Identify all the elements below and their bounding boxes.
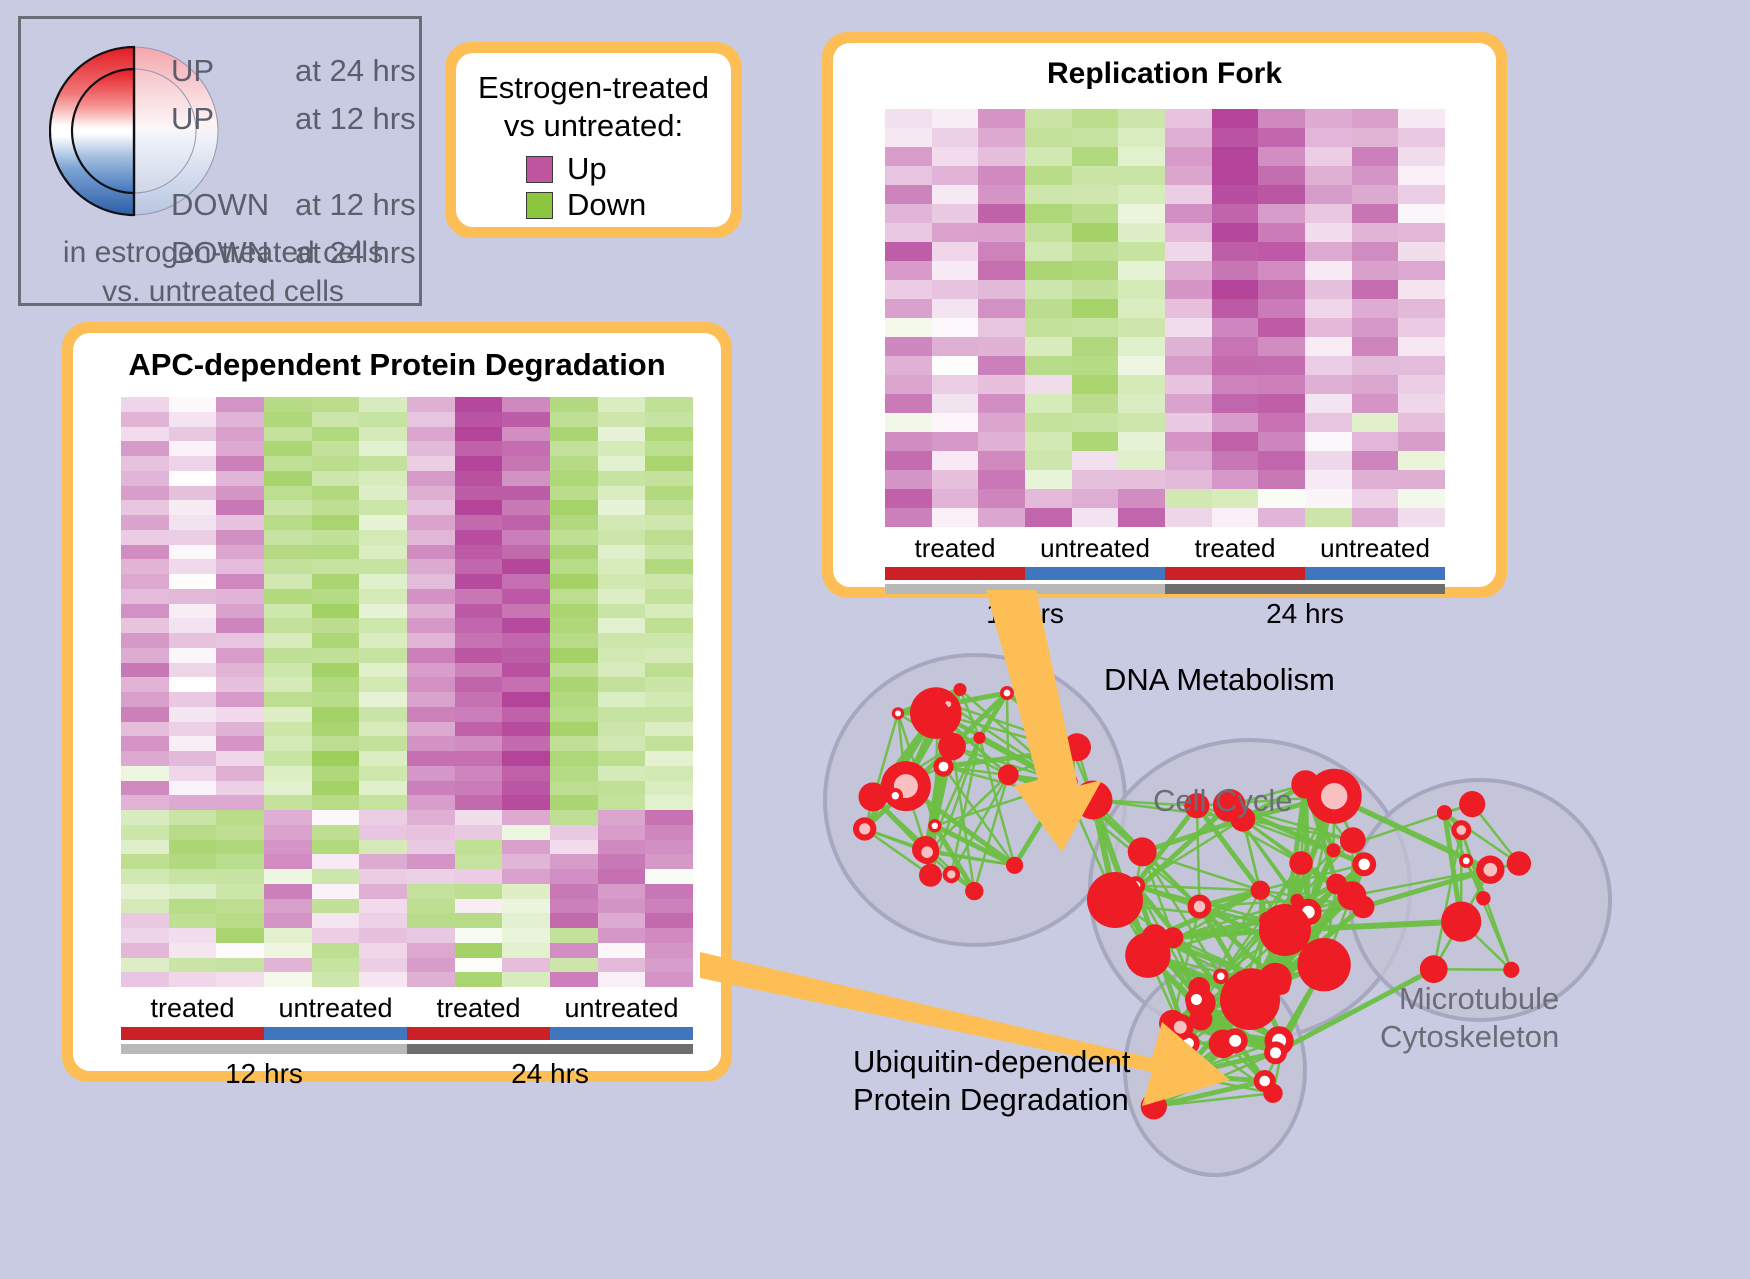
heatmap-cell xyxy=(598,412,646,427)
network-node-core xyxy=(947,870,955,878)
heatmap-cell xyxy=(1352,261,1399,280)
heatmap-cell xyxy=(978,432,1025,451)
heatmap-cell xyxy=(216,618,264,633)
heatmap-cell xyxy=(502,397,550,412)
heatmap-cell xyxy=(264,633,312,648)
heatmap-cell xyxy=(645,604,693,619)
heatmap-cell xyxy=(169,928,217,943)
heatmap-cell xyxy=(121,928,169,943)
heatmap-cell xyxy=(359,840,407,855)
heatmap-cell xyxy=(264,559,312,574)
heatmap-cell xyxy=(312,869,360,884)
heatmap-cell xyxy=(121,751,169,766)
heatmap-cell xyxy=(502,781,550,796)
heatmap-cell xyxy=(1072,185,1119,204)
heatmap-cell xyxy=(1212,451,1259,470)
heatmap-cell xyxy=(1118,128,1165,147)
heatmap-cell xyxy=(1072,470,1119,489)
network-node-core xyxy=(1463,857,1470,864)
heatmap-cell xyxy=(121,500,169,515)
heatmap-cell xyxy=(1165,508,1212,527)
heatmap-cell xyxy=(1258,185,1305,204)
heatmap-cell xyxy=(169,500,217,515)
heatmap-cell xyxy=(1072,204,1119,223)
heatmap-cell xyxy=(1025,432,1072,451)
heatmap-cell xyxy=(312,427,360,442)
heatmap-cell xyxy=(455,427,503,442)
heatmap-cell xyxy=(645,736,693,751)
color-wheel-legend: UP at 24 hrs UP at 12 hrs DOWN at 12 hrs… xyxy=(18,16,422,306)
heatmap-cell xyxy=(169,913,217,928)
heatmap-cell xyxy=(1352,337,1399,356)
heatmap-cell xyxy=(502,515,550,530)
heatmap-cell xyxy=(359,913,407,928)
heatmap-cell xyxy=(359,500,407,515)
heatmap-cell xyxy=(598,604,646,619)
heatmap-cell xyxy=(598,397,646,412)
heatmap-cell xyxy=(264,589,312,604)
group-label: treated xyxy=(121,993,264,1024)
network-node xyxy=(1459,791,1485,817)
heatmap-cell xyxy=(1072,318,1119,337)
heatmap-cell xyxy=(978,128,1025,147)
heatmap-cell xyxy=(1212,489,1259,508)
heatmap-cell xyxy=(1025,394,1072,413)
heatmap-cell xyxy=(1025,128,1072,147)
heatmap-cell xyxy=(598,899,646,914)
heatmap-cell xyxy=(1025,185,1072,204)
page-title: Replication Fork xyxy=(833,57,1496,91)
group-bar-segment xyxy=(1165,567,1305,580)
wheel-row: UP at 24 hrs xyxy=(171,47,421,95)
group-bar-segment xyxy=(407,1027,550,1040)
heatmap-cell xyxy=(359,530,407,545)
heatmap-cell xyxy=(455,899,503,914)
heatmap-cell xyxy=(502,633,550,648)
heatmap-cell xyxy=(1165,185,1212,204)
heatmap-cell xyxy=(264,574,312,589)
heatmap-cell xyxy=(407,589,455,604)
heatmap-cell xyxy=(1165,147,1212,166)
heatmap-cell xyxy=(455,545,503,560)
heatmap-cell xyxy=(502,928,550,943)
heatmap-cell xyxy=(1258,394,1305,413)
heatmap-cell xyxy=(359,854,407,869)
heatmap-cell xyxy=(407,500,455,515)
heatmap-cell xyxy=(455,412,503,427)
heatmap-cell xyxy=(359,604,407,619)
heatmap-cell xyxy=(216,559,264,574)
heatmap-cell xyxy=(1352,470,1399,489)
heatmap-cell xyxy=(1025,166,1072,185)
heatmap-cell xyxy=(455,456,503,471)
heatmap-cell xyxy=(1305,261,1352,280)
heatmap-cell xyxy=(1118,375,1165,394)
heatmap-cell xyxy=(645,412,693,427)
heatmap-cell xyxy=(645,500,693,515)
wheel-row-value: at 12 hrs xyxy=(295,95,416,143)
heatmap-cell xyxy=(312,766,360,781)
heatmap-cell xyxy=(407,958,455,973)
heatmap-cell xyxy=(216,456,264,471)
heatmap-cell xyxy=(407,722,455,737)
heatmap-cell xyxy=(455,486,503,501)
heatmap-cell xyxy=(216,707,264,722)
heatmap-cell xyxy=(216,574,264,589)
heatmap-cell xyxy=(598,559,646,574)
heatmap-cell xyxy=(1398,470,1445,489)
heatmap-cell xyxy=(264,530,312,545)
heatmap-cell xyxy=(502,884,550,899)
heatmap-cell xyxy=(598,795,646,810)
network-node-core xyxy=(1452,912,1471,931)
heatmap-cell xyxy=(264,412,312,427)
heatmap-cell xyxy=(264,707,312,722)
heatmap-cell xyxy=(978,470,1025,489)
heatmap-cell xyxy=(1305,337,1352,356)
heatmap-cell xyxy=(645,766,693,781)
heatmap-cell xyxy=(264,736,312,751)
heatmap-cell xyxy=(978,261,1025,280)
heatmap-cell xyxy=(216,810,264,825)
network-node xyxy=(1251,881,1270,900)
heatmap-cell xyxy=(312,899,360,914)
heatmap-cell xyxy=(550,840,598,855)
heatmap-cell xyxy=(1072,147,1119,166)
heatmap-cell xyxy=(169,795,217,810)
network-node-core xyxy=(1507,966,1515,974)
heatmap-cell xyxy=(216,825,264,840)
heatmap-cell xyxy=(121,545,169,560)
wheel-row-key: DOWN xyxy=(171,181,295,229)
heatmap-cell xyxy=(121,648,169,663)
heatmap-cell xyxy=(359,722,407,737)
heatmap-cell xyxy=(1165,337,1212,356)
heatmap-cell xyxy=(1165,375,1212,394)
heatmap-cell xyxy=(502,663,550,678)
heatmap-cell xyxy=(169,545,217,560)
network-node-core xyxy=(1359,859,1370,870)
wheel-row-value: at 24 hrs xyxy=(295,47,416,95)
heatmap-cell xyxy=(312,958,360,973)
heatmap-cell xyxy=(407,884,455,899)
heatmap-cell xyxy=(1025,508,1072,527)
heatmap-cell xyxy=(264,471,312,486)
heatmap-cell xyxy=(121,515,169,530)
heatmap-cell xyxy=(359,751,407,766)
heatmap-cell xyxy=(502,810,550,825)
heatmap-cell xyxy=(502,589,550,604)
heatmap-cell xyxy=(359,707,407,722)
heatmap-cell xyxy=(169,456,217,471)
heatmap-cell xyxy=(359,515,407,530)
heatmap-cell xyxy=(359,633,407,648)
heatmap-cell xyxy=(550,604,598,619)
heatmap-cell xyxy=(502,604,550,619)
heatmap-cell xyxy=(312,530,360,545)
heatmap-cell xyxy=(502,751,550,766)
heatmap-cell xyxy=(645,471,693,486)
heatmap-cell xyxy=(359,471,407,486)
heatmap-cell xyxy=(550,751,598,766)
heatmap-cell xyxy=(312,456,360,471)
network-node-core xyxy=(1270,1047,1281,1058)
heatmap-cell xyxy=(978,375,1025,394)
heatmap-cell xyxy=(550,677,598,692)
heatmap-cell xyxy=(502,427,550,442)
heatmap-cell xyxy=(502,500,550,515)
heatmap-cell xyxy=(1352,147,1399,166)
heatmap-cell xyxy=(1025,318,1072,337)
network-node-core xyxy=(892,792,899,799)
heatmap-cell xyxy=(1025,337,1072,356)
heatmap-cell xyxy=(932,185,979,204)
heatmap-cell xyxy=(1305,242,1352,261)
heatmap-cell xyxy=(978,223,1025,242)
heatmap-cell xyxy=(359,736,407,751)
network-node-core xyxy=(1321,783,1347,809)
heatmap-cell xyxy=(1258,204,1305,223)
heatmap-cell xyxy=(216,972,264,987)
replication-fork-heatmap xyxy=(885,109,1445,527)
heatmap-cell xyxy=(598,766,646,781)
heatmap-cell xyxy=(312,840,360,855)
heatmap-cell xyxy=(121,663,169,678)
heatmap-cell xyxy=(978,166,1025,185)
heatmap-cell xyxy=(359,412,407,427)
heatmap-cell xyxy=(1398,451,1445,470)
heatmap-cell xyxy=(932,413,979,432)
heatmap-cell xyxy=(1025,375,1072,394)
heatmap-cell xyxy=(264,913,312,928)
heatmap-cell xyxy=(312,633,360,648)
heatmap-cell xyxy=(1305,508,1352,527)
heatmap-cell xyxy=(645,884,693,899)
heatmap-cell xyxy=(121,736,169,751)
heatmap-cell xyxy=(645,545,693,560)
heatmap-cell xyxy=(932,261,979,280)
heatmap-cell xyxy=(121,589,169,604)
heatmap-cell xyxy=(1398,318,1445,337)
heatmap-cell xyxy=(1025,242,1072,261)
heatmap-cell xyxy=(502,618,550,633)
group-label: untreated xyxy=(1305,533,1445,564)
heatmap-cell xyxy=(216,486,264,501)
heatmap-cell xyxy=(169,471,217,486)
heatmap-cell xyxy=(645,618,693,633)
heatmap-cell xyxy=(1258,299,1305,318)
network-node-core xyxy=(1484,863,1498,877)
heatmap-cell xyxy=(216,471,264,486)
heatmap-cell xyxy=(1258,261,1305,280)
heatmap-cell xyxy=(455,884,503,899)
heatmap-cell xyxy=(407,486,455,501)
heatmap-cell xyxy=(1398,356,1445,375)
heatmap-cell xyxy=(264,545,312,560)
heatmap-cell xyxy=(264,618,312,633)
heatmap-cell xyxy=(550,441,598,456)
heatmap-cell xyxy=(1165,318,1212,337)
key-item-list: Up Down xyxy=(526,151,646,223)
heatmap-cell xyxy=(502,899,550,914)
heatmap-cell xyxy=(216,736,264,751)
heatmap-cell xyxy=(598,692,646,707)
heatmap-cell xyxy=(1212,356,1259,375)
group-bar-segment xyxy=(121,1027,264,1040)
group-label: treated xyxy=(1165,533,1305,564)
heatmap-cell xyxy=(1352,394,1399,413)
heatmap-cell xyxy=(407,515,455,530)
heatmap-cell xyxy=(1025,147,1072,166)
heatmap-cell xyxy=(169,427,217,442)
heatmap-cell xyxy=(121,677,169,692)
heatmap-cell xyxy=(359,574,407,589)
heatmap-cell xyxy=(598,456,646,471)
heatmap-cell xyxy=(645,707,693,722)
heatmap-cell xyxy=(264,722,312,737)
heatmap-cell xyxy=(502,736,550,751)
heatmap-cell xyxy=(1212,337,1259,356)
heatmap-cell xyxy=(407,854,455,869)
heatmap-cell xyxy=(455,604,503,619)
heatmap-cell xyxy=(598,589,646,604)
network-node xyxy=(859,782,888,811)
heatmap-cell xyxy=(1258,432,1305,451)
heatmap-cell xyxy=(1072,242,1119,261)
heatmap-cell xyxy=(885,280,932,299)
heatmap-cell xyxy=(598,913,646,928)
heatmap-cell xyxy=(932,394,979,413)
network-node-core xyxy=(939,762,949,772)
heatmap-cell xyxy=(121,869,169,884)
heatmap-cell xyxy=(312,648,360,663)
group-color-bar xyxy=(121,1027,693,1040)
heatmap-cell xyxy=(645,854,693,869)
heatmap-cell xyxy=(407,840,455,855)
time-label-row: 12 hrs24 hrs xyxy=(121,1058,693,1090)
heatmap-cell xyxy=(1118,280,1165,299)
heatmap-cell xyxy=(264,648,312,663)
key-item-label: Down xyxy=(567,187,646,223)
heatmap-cell xyxy=(169,397,217,412)
heatmap-cell xyxy=(169,412,217,427)
heatmap-cell xyxy=(359,427,407,442)
heatmap-cell xyxy=(312,515,360,530)
heatmap-cell xyxy=(502,412,550,427)
heatmap-cell xyxy=(359,559,407,574)
heatmap-cell xyxy=(407,943,455,958)
heatmap-cell xyxy=(312,913,360,928)
heatmap-cell xyxy=(1025,470,1072,489)
heatmap-cell xyxy=(1118,299,1165,318)
heatmap-cell xyxy=(885,318,932,337)
heatmap-cell xyxy=(169,972,217,987)
heatmap-cell xyxy=(312,471,360,486)
heatmap-cell xyxy=(645,692,693,707)
heatmap-cell xyxy=(1398,375,1445,394)
heatmap-cell xyxy=(216,427,264,442)
heatmap-cell xyxy=(1398,242,1445,261)
heatmap-cell xyxy=(932,470,979,489)
heatmap-cell xyxy=(455,810,503,825)
network-node xyxy=(965,882,983,900)
heatmap-cell xyxy=(550,663,598,678)
heatmap-cell xyxy=(1118,223,1165,242)
heatmap-cell xyxy=(502,795,550,810)
heatmap-cell xyxy=(550,559,598,574)
heatmap-cell xyxy=(502,530,550,545)
heatmap-cell xyxy=(169,736,217,751)
heatmap-cell xyxy=(1352,489,1399,508)
heatmap-cell xyxy=(885,128,932,147)
heatmap-cell xyxy=(550,943,598,958)
heatmap-cell xyxy=(264,663,312,678)
heatmap-cell xyxy=(407,545,455,560)
heatmap-cell xyxy=(1398,394,1445,413)
heatmap-cell xyxy=(264,884,312,899)
heatmap-cell xyxy=(885,489,932,508)
heatmap-cell xyxy=(407,618,455,633)
heatmap-cell xyxy=(312,972,360,987)
heatmap-cell xyxy=(359,869,407,884)
heatmap-cell xyxy=(1118,261,1165,280)
heatmap-cell xyxy=(455,795,503,810)
heatmap-cell xyxy=(550,456,598,471)
heatmap-cell xyxy=(1118,394,1165,413)
heatmap-cell xyxy=(1165,128,1212,147)
heatmap-cell xyxy=(932,375,979,394)
heatmap-cell xyxy=(216,633,264,648)
cluster-label-dna-metabolism: DNA Metabolism xyxy=(1104,662,1335,698)
heatmap-cell xyxy=(312,943,360,958)
heatmap-cell xyxy=(407,604,455,619)
heatmap-cell xyxy=(598,648,646,663)
heatmap-cell xyxy=(1258,470,1305,489)
heatmap-cell xyxy=(645,840,693,855)
heatmap-cell xyxy=(264,972,312,987)
heatmap-cell xyxy=(978,489,1025,508)
heatmap-cell xyxy=(407,530,455,545)
heatmap-cell xyxy=(312,795,360,810)
heatmap-cell xyxy=(121,707,169,722)
group-bar-segment xyxy=(1305,567,1445,580)
heatmap-cell xyxy=(1165,280,1212,299)
heatmap-cell xyxy=(169,899,217,914)
group-label-row: treateduntreatedtreateduntreated xyxy=(121,993,693,1024)
heatmap-cell xyxy=(359,618,407,633)
heatmap-cell xyxy=(1025,223,1072,242)
heatmap-cell xyxy=(1118,204,1165,223)
heatmap-cell xyxy=(264,943,312,958)
heatmap-cell xyxy=(455,781,503,796)
heatmap-cell xyxy=(264,958,312,973)
heatmap-cell xyxy=(1258,489,1305,508)
heatmap-cell xyxy=(407,899,455,914)
heatmap-cell xyxy=(264,692,312,707)
heatmap-cell xyxy=(121,795,169,810)
heatmap-cell xyxy=(169,648,217,663)
heatmap-cell xyxy=(169,781,217,796)
group-bar-segment xyxy=(264,1027,407,1040)
network-node-core xyxy=(921,846,933,858)
heatmap-cell xyxy=(216,663,264,678)
heatmap-cell xyxy=(550,781,598,796)
heatmap-cell xyxy=(550,397,598,412)
heatmap-cell xyxy=(978,394,1025,413)
heatmap-cell xyxy=(169,618,217,633)
heatmap-cell xyxy=(1258,280,1305,299)
heatmap-cell xyxy=(121,972,169,987)
